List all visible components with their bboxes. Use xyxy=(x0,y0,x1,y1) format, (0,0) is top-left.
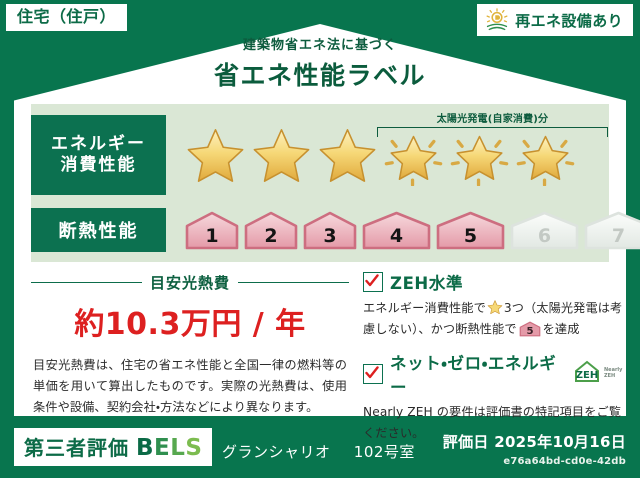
panel-content: エネルギー 消費性能 xyxy=(14,24,626,416)
insulation-chip: 1 xyxy=(184,210,240,251)
chip-value: 7 xyxy=(583,227,640,246)
evaluation-date: 評価日 2025年10月16日 xyxy=(443,431,626,452)
solar-share-bracket: 太陽光発電(自家消費)分 xyxy=(371,113,614,135)
rule-left xyxy=(31,282,142,284)
insulation-performance-label: 断熱性能 xyxy=(31,208,166,252)
evaluation-date-label: 評価日 xyxy=(443,433,489,451)
insulation-chip: 4 xyxy=(361,210,432,251)
renewable-equipment-badge: 再エネ設備あり xyxy=(477,4,633,36)
star-icon xyxy=(184,124,247,186)
criteria-column: ZEH水準 エネルギー消費性能で3つ（太陽光発電は考慮しない）、かつ断熱性能で5… xyxy=(349,270,627,428)
bels-certification-mark: 第三者評価 BELS xyxy=(14,428,212,466)
evaluation-date-value: 2025年10月16日 xyxy=(494,433,626,451)
building-name: グランシャリオ xyxy=(222,443,331,461)
bels-en-logo: BELS xyxy=(136,435,202,461)
insulation-level-chips: 1 2 3 xyxy=(184,210,640,251)
energy-cost-heading: 目安光熱費 xyxy=(31,272,349,293)
insulation-chip: 2 xyxy=(243,210,299,251)
label-footer: 第三者評価 BELS グランシャリオ 102号室 評価日 2025年10月16日… xyxy=(0,418,640,478)
chip-value: 3 xyxy=(302,227,358,246)
renewable-badge-label: 再エネ設備あり xyxy=(515,10,623,31)
bottom-section: 目安光熱費 約10.3万円 / 年 目安光熱費は、住宅の省エネ性能と全国一律の燃… xyxy=(31,270,627,428)
criterion-body-part3: を達成 xyxy=(543,322,580,336)
solar-bracket-label: 太陽光発電(自家消費)分 xyxy=(371,110,614,125)
bracket-line xyxy=(377,127,608,137)
energy-label-root: 建築物省エネ法に基づく 省エネ性能ラベル エネルギー 消費性能 xyxy=(0,0,640,478)
energy-cost-value: 約10.3万円 / 年 xyxy=(31,299,349,343)
chip-value: 6 xyxy=(509,227,580,246)
criterion-title: ネット・ゼロ・エネルギー xyxy=(390,350,562,398)
rule-right xyxy=(238,282,349,284)
energy-label-line2: 消費性能 xyxy=(61,155,137,176)
criterion-body: エネルギー消費性能で3つ（太陽光発電は考慮しない）、かつ断熱性能で5を達成 xyxy=(363,298,627,340)
svg-text:ZEH: ZEH xyxy=(576,370,598,381)
energy-cost-title: 目安光熱費 xyxy=(150,272,230,293)
chip-value: 5 xyxy=(435,227,506,246)
insulation-chip: 7 xyxy=(583,210,640,251)
evaluation-id: e76a64bd-cd0e-42db xyxy=(503,456,626,467)
insulation-performance-row: 断熱性能 1 xyxy=(31,208,640,252)
criterion-title: ZEH水準 xyxy=(390,270,463,294)
bels-jp-label: 第三者評価 xyxy=(24,432,129,461)
energy-cost-note: 目安光熱費は、住宅の省エネ性能と全国一律の燃料等の単価を用いて算出したものです。… xyxy=(31,355,349,418)
chip-value: 4 xyxy=(361,227,432,246)
insulation-chip: 3 xyxy=(302,210,358,251)
criterion-body-part1: エネルギー消費性能で xyxy=(363,301,486,315)
inline-level-chip-icon: 5 xyxy=(519,321,541,337)
insulation-chip: 6 xyxy=(509,210,580,251)
sun-solar-icon xyxy=(484,8,510,32)
star-icon xyxy=(250,124,313,186)
housing-type-chip: 住宅（住戸） xyxy=(6,4,127,31)
room-number: 102号室 xyxy=(354,443,415,461)
zeh-nearly-logo-icon: ZEH Nearly ZEH xyxy=(573,359,627,389)
criterion-zeh-standard: ZEH水準 エネルギー消費性能で3つ（太陽光発電は考慮しない）、かつ断熱性能で5… xyxy=(363,270,627,340)
criterion-header: ZEH水準 xyxy=(363,270,627,294)
building-info: グランシャリオ 102号室 xyxy=(222,441,415,462)
chip-value: 1 xyxy=(184,227,240,246)
energy-cost-column: 目安光熱費 約10.3万円 / 年 目安光熱費は、住宅の省エネ性能と全国一律の燃… xyxy=(31,270,349,428)
performance-block: エネルギー 消費性能 xyxy=(31,104,609,262)
checkbox-checked-icon[interactable] xyxy=(363,364,383,384)
svg-text:5: 5 xyxy=(526,326,533,337)
checkbox-checked-icon[interactable] xyxy=(363,272,383,292)
star-icon xyxy=(316,124,379,186)
insulation-chip: 5 xyxy=(435,210,506,251)
energy-performance-row: エネルギー 消費性能 xyxy=(31,115,577,195)
energy-performance-label: エネルギー 消費性能 xyxy=(31,115,166,195)
chip-value: 2 xyxy=(243,227,299,246)
inline-star-icon xyxy=(487,299,503,315)
energy-label-line1: エネルギー xyxy=(51,134,146,155)
criterion-header: ネット・ゼロ・エネルギー ZEH Nearly ZEH xyxy=(363,350,627,398)
svg-text:ZEH: ZEH xyxy=(604,373,615,379)
